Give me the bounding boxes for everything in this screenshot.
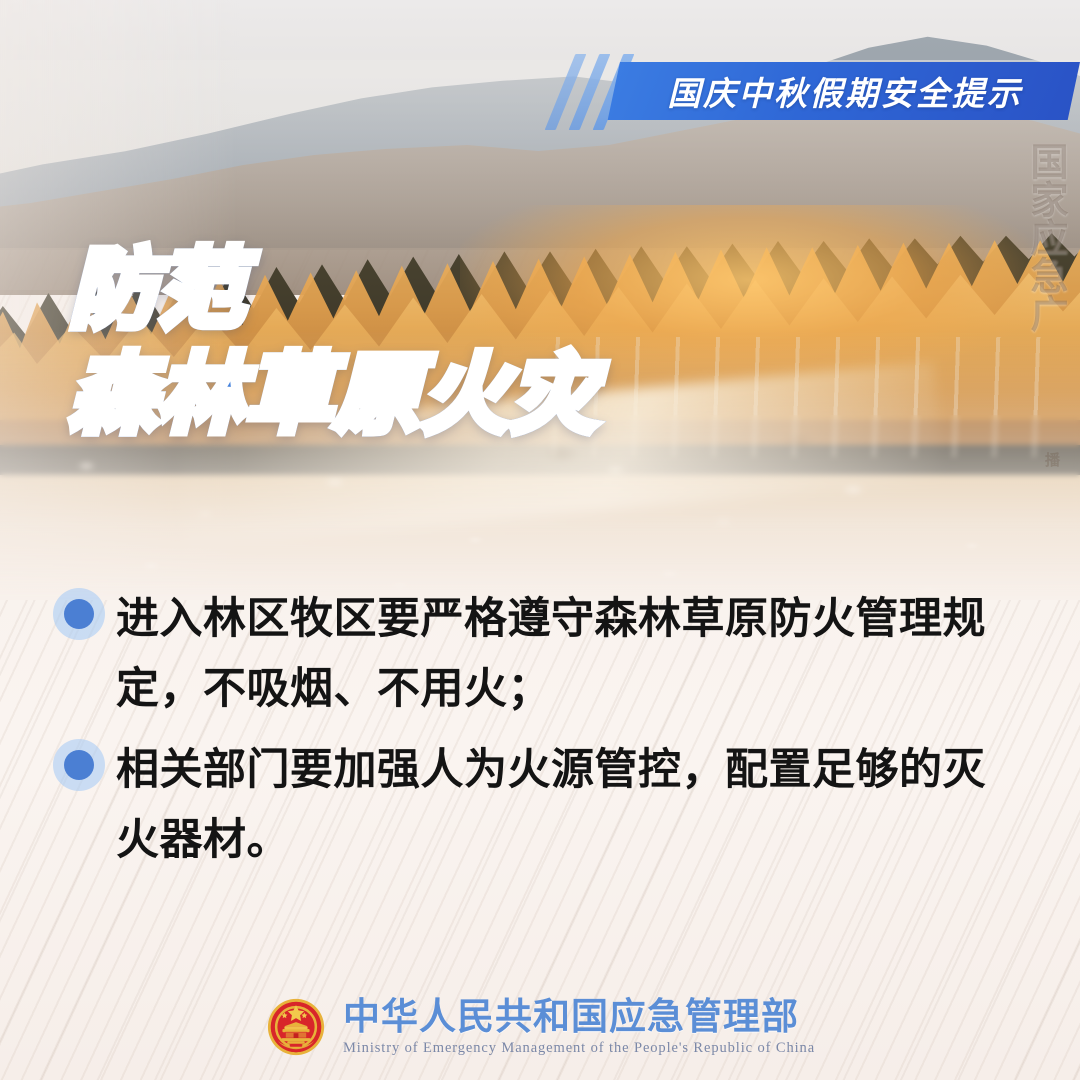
watermark-text: 国家应急广 bbox=[1000, 142, 1066, 332]
advice-list: 进入林区牧区要严格遵守森林草原防火管理规定，不吸烟、不用火； 相关部门要加强人为… bbox=[64, 585, 1016, 888]
safety-poster: 国家应急广 播 国庆中秋假期安全提示 防范 森林草原火灾 进入林区牧区要严格遵守… bbox=[0, 0, 1080, 1080]
header-banner: 国庆中秋假期安全提示 bbox=[556, 62, 1080, 120]
footer-org-block: 中华人民共和国应急管理部 Ministry of Emergency Manag… bbox=[343, 997, 815, 1057]
footer-org-name-en: Ministry of Emergency Management of the … bbox=[343, 1040, 815, 1057]
footer-org-name-cn: 中华人民共和国应急管理部 bbox=[343, 997, 799, 1037]
bullet-dot-icon bbox=[64, 599, 94, 629]
list-item-text: 相关部门要加强人为火源管控，配置足够的灭火器材。 bbox=[116, 736, 1016, 875]
national-emblem-icon bbox=[265, 996, 327, 1058]
banner-label: 国庆中秋假期安全提示 bbox=[618, 62, 1078, 120]
watermark-subtext: 播 bbox=[1043, 452, 1060, 467]
page-title: 防范 森林草原火灾 bbox=[70, 246, 770, 441]
list-item: 相关部门要加强人为火源管控，配置足够的灭火器材。 bbox=[64, 736, 1016, 875]
list-item-text: 进入林区牧区要严格遵守森林草原防火管理规定，不吸烟、不用火； bbox=[116, 585, 1016, 724]
page-title-line-2: 森林草原火灾 bbox=[70, 351, 770, 440]
bullet-dot-icon bbox=[64, 750, 94, 780]
footer: 中华人民共和国应急管理部 Ministry of Emergency Manag… bbox=[0, 996, 1080, 1058]
page-title-line-1: 防范 bbox=[70, 246, 770, 335]
list-item: 进入林区牧区要严格遵守森林草原防火管理规定，不吸烟、不用火； bbox=[64, 585, 1016, 724]
